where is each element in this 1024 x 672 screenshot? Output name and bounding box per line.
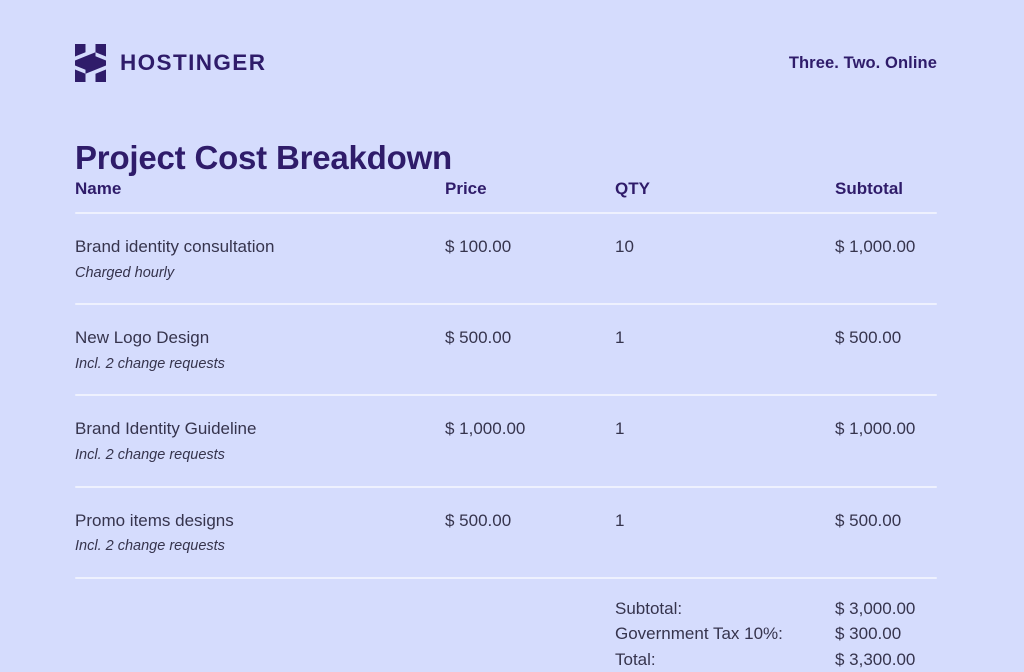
invoice-page: HOSTINGER Three. Two. Online Project Cos… xyxy=(0,0,1024,661)
item-name: New Logo Design xyxy=(75,328,445,348)
table-row: Promo items designs Incl. 2 change reque… xyxy=(75,488,937,577)
hostinger-h-logo-icon xyxy=(75,44,106,82)
table-cell-name: Brand identity consultation Charged hour… xyxy=(75,237,445,281)
totals-label-subtotal: Subtotal: xyxy=(615,596,835,622)
totals-value-total: $ 3,300.00 xyxy=(835,647,937,672)
brand-tagline: Three. Two. Online xyxy=(789,54,937,73)
table-row: Brand Identity Guideline Incl. 2 change … xyxy=(75,396,937,485)
table-cell-price: $ 500.00 xyxy=(445,328,615,348)
item-note: Incl. 2 change requests xyxy=(75,447,445,464)
totals-value-subtotal: $ 3,000.00 xyxy=(835,596,937,622)
column-header-subtotal: Subtotal xyxy=(835,180,937,197)
table-cell-qty: 1 xyxy=(615,419,835,439)
table-cell-price: $ 100.00 xyxy=(445,237,615,257)
table-cell-subtotal: $ 1,000.00 xyxy=(835,237,937,257)
totals-label-tax: Government Tax 10%: xyxy=(615,621,835,647)
totals-label-total: Total: xyxy=(615,647,835,672)
table-cell-qty: 10 xyxy=(615,237,835,257)
table-cell-price: $ 1,000.00 xyxy=(445,419,615,439)
item-note: Charged hourly xyxy=(75,265,445,282)
page-title: Project Cost Breakdown xyxy=(75,138,452,178)
table-row: New Logo Design Incl. 2 change requests … xyxy=(75,305,937,394)
table-cell-qty: 1 xyxy=(615,511,835,531)
table-cell-subtotal: $ 500.00 xyxy=(835,328,937,348)
table-cell-name: New Logo Design Incl. 2 change requests xyxy=(75,328,445,372)
table-cell-price: $ 500.00 xyxy=(445,511,615,531)
item-name: Promo items designs xyxy=(75,511,445,531)
totals-value-tax: $ 300.00 xyxy=(835,621,937,647)
table-cell-name: Brand Identity Guideline Incl. 2 change … xyxy=(75,419,445,463)
item-note: Incl. 2 change requests xyxy=(75,538,445,555)
column-header-name: Name xyxy=(75,180,445,197)
item-name: Brand Identity Guideline xyxy=(75,419,445,439)
table-cell-subtotal: $ 1,000.00 xyxy=(835,419,937,439)
table-cell-qty: 1 xyxy=(615,328,835,348)
column-header-qty: QTY xyxy=(615,180,835,197)
table-header-row: Name Price QTY Subtotal xyxy=(75,180,937,212)
table-row: Brand identity consultation Charged hour… xyxy=(75,214,937,303)
cost-breakdown-table: Name Price QTY Subtotal Brand identity c… xyxy=(75,180,937,672)
brand-wordmark: HOSTINGER xyxy=(120,52,266,75)
table-cell-name: Promo items designs Incl. 2 change reque… xyxy=(75,511,445,555)
column-header-price: Price xyxy=(445,180,615,197)
item-name: Brand identity consultation xyxy=(75,237,445,257)
item-note: Incl. 2 change requests xyxy=(75,356,445,373)
table-cell-subtotal: $ 500.00 xyxy=(835,511,937,531)
totals-section: Subtotal: Government Tax 10%: Total: $ 3… xyxy=(75,579,937,672)
brand-lockup: HOSTINGER xyxy=(75,44,266,82)
page-header: HOSTINGER Three. Two. Online xyxy=(75,42,937,84)
